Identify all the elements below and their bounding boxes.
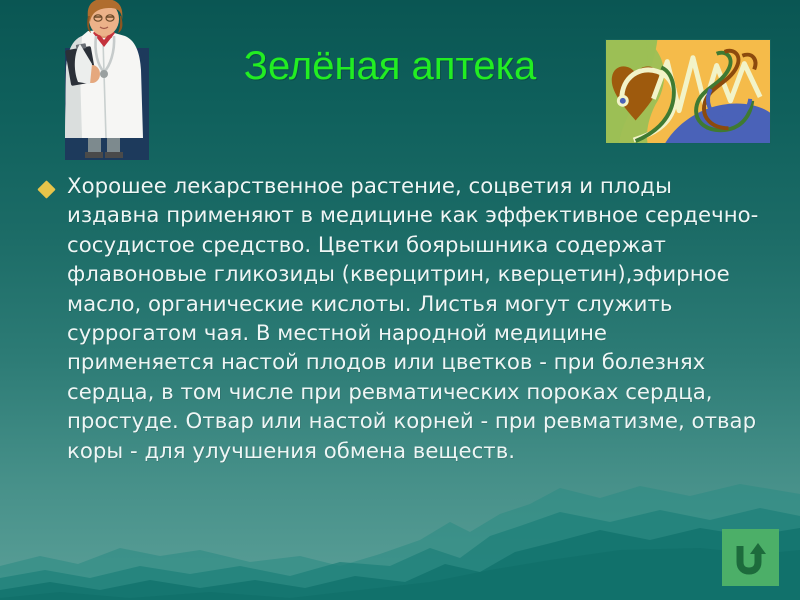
page-title: Зелёная аптека [180, 44, 600, 89]
return-button[interactable] [722, 529, 779, 586]
diamond-bullet-icon [37, 180, 55, 198]
mountain-layer-shadow [0, 548, 800, 600]
doctor-figure-image [36, 0, 154, 160]
u-turn-arrow-icon [731, 538, 771, 578]
medical-heart-ecg-stethoscope-image [605, 39, 771, 144]
stethoscope-bell [100, 70, 108, 78]
mountain-layer-mid [0, 508, 800, 600]
doctor-shoe-right [105, 152, 123, 158]
slide-canvas: Зелёная аптека Хорошее лекарственное рас… [0, 0, 800, 600]
mountain-layer-back [0, 484, 800, 600]
content-bullet-item: Хорошее лекарственное растение, соцветия… [40, 172, 760, 466]
body-paragraph: Хорошее лекарственное растение, соцветия… [67, 172, 760, 466]
mountain-silhouette-decoration [0, 470, 800, 600]
clipart-stethoscope-bell-center [620, 98, 626, 104]
mountain-layer-front [0, 528, 800, 600]
doctor-shoe-left [85, 152, 103, 158]
